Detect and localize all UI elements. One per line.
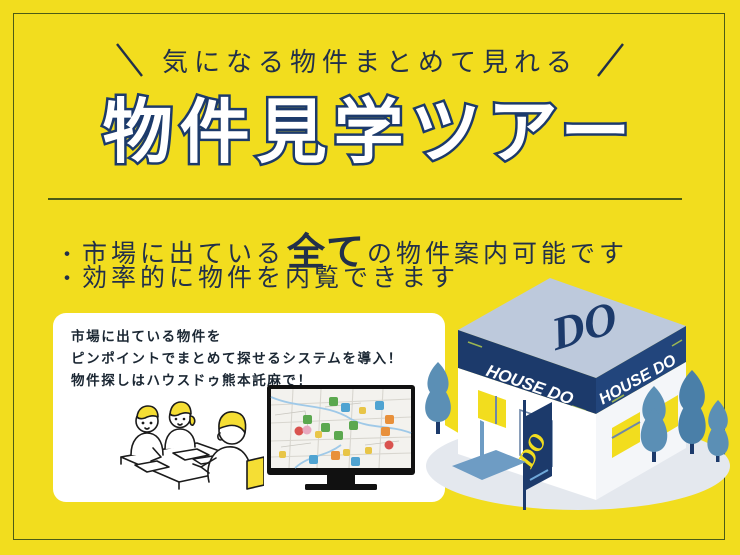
housedo-store-illustration: DO HOUSE DO HOUSE DO DO [400, 250, 740, 520]
tree-right-3 [707, 400, 728, 462]
subtitle-text: 気になる物件まとめて見れる [162, 42, 578, 79]
card-line-1: 市場に出ている物件を [71, 326, 403, 348]
consultation-illustration [101, 385, 264, 490]
pole [480, 420, 484, 462]
subtitle-row: 気になる物件まとめて見れる [0, 40, 740, 80]
tree-left [425, 362, 451, 434]
slash-left-icon [114, 40, 148, 80]
map-search-monitor [265, 385, 417, 493]
poster-canvas: 気になる物件まとめて見れる 物件見学ツアー ・ 市場に出ている 全て の物件案内… [0, 0, 740, 555]
page-title: 物件見学ツアー [0, 96, 740, 170]
card-line-2: ピンポイントでまとめて探せるシステムを導入！ [71, 348, 403, 370]
slash-right-icon [592, 40, 626, 80]
bullet-marker: ・ [56, 261, 78, 293]
card-text-block: 市場に出ている物件を ピンポイントでまとめて探せるシステムを導入！ 物件探しはハ… [71, 326, 403, 392]
bullet-text-emphasis: 全て [287, 221, 365, 276]
info-card: 市場に出ている物件を ピンポイントでまとめて探せるシステムを導入！ 物件探しはハ… [53, 313, 445, 502]
card-body: 市場に出ている物件を ピンポイントでまとめて探せるシステムを導入！ 物件探しはハ… [53, 313, 445, 502]
title-divider [48, 198, 682, 200]
